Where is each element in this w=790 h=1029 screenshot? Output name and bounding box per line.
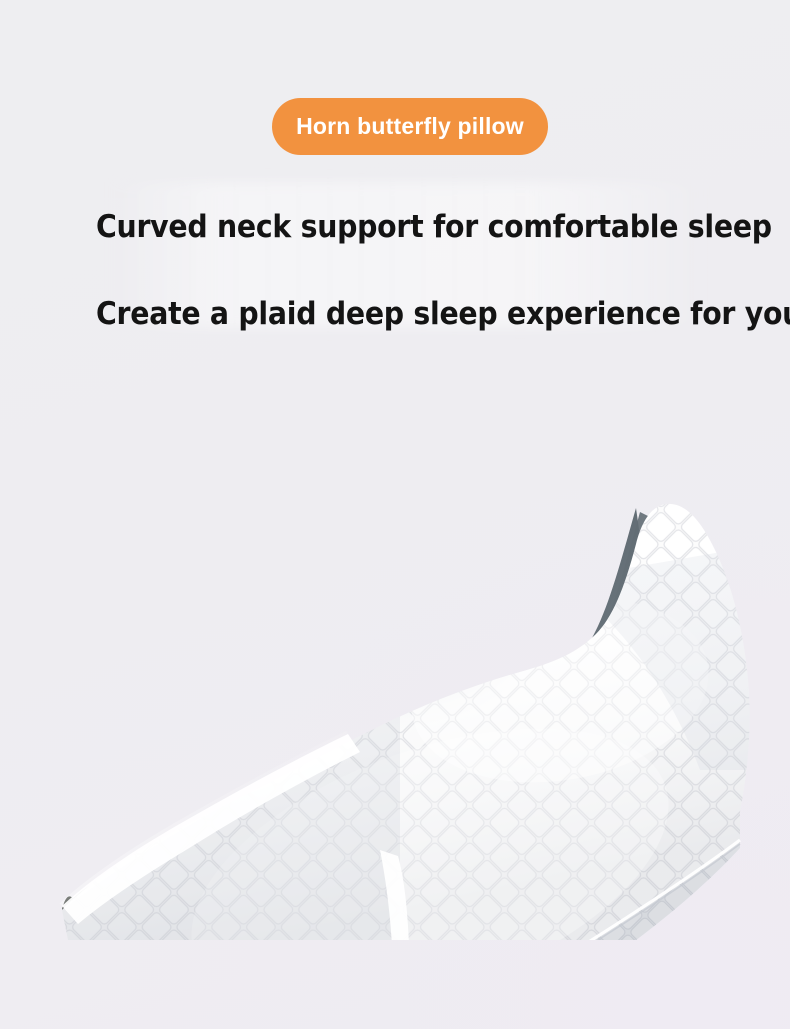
product-title-badge-label: Horn butterfly pillow — [296, 113, 524, 140]
product-marketing-page: Horn butterfly pillow Curved neck suppor… — [0, 0, 790, 1029]
headline-secondary: Create a plaid deep sleep experience for… — [96, 296, 682, 332]
headline-primary: Curved neck support for comfortable slee… — [96, 209, 682, 245]
pillow-illustration — [0, 440, 790, 940]
product-title-badge: Horn butterfly pillow — [272, 98, 548, 155]
product-image — [0, 440, 790, 940]
